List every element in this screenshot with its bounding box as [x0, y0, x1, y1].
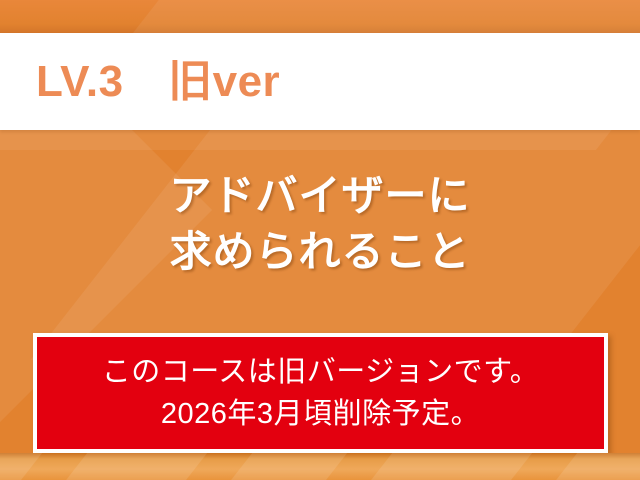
- bottom-stripe: [361, 453, 540, 480]
- notice-line-2: 2026年3月頃削除予定。: [161, 393, 480, 435]
- bottom-stripe: [56, 453, 215, 480]
- bottom-stripe: [0, 453, 50, 480]
- headline-line-2: 求められること: [0, 224, 640, 280]
- bottom-stripe-band: [0, 453, 640, 480]
- bottom-stripe: [221, 453, 355, 480]
- headline: アドバイザーに 求められること: [0, 168, 640, 280]
- notice-line-1: このコースは旧バージョンです。: [102, 351, 540, 393]
- top-orange-strip: [0, 0, 640, 33]
- course-level-title: LV.3 旧ver: [36, 60, 280, 104]
- deprecation-notice-box: このコースは旧バージョンです。 2026年3月頃削除予定。: [33, 333, 608, 453]
- bottom-stripe: [546, 453, 640, 480]
- slide-root: LV.3 旧ver アドバイザーに 求められること このコースは旧バージョンです…: [0, 0, 640, 480]
- title-band: LV.3 旧ver: [0, 33, 640, 130]
- headline-line-1: アドバイザーに: [0, 168, 640, 224]
- top-strip-sheen: [96, 0, 640, 33]
